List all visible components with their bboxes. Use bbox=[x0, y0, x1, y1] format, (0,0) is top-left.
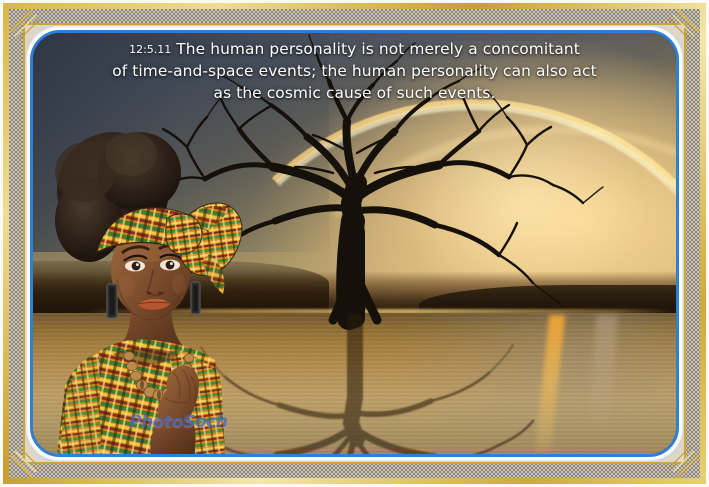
quote-line-3: as the cosmic cause of such events. bbox=[214, 84, 496, 102]
verse-reference: 12:5.11 bbox=[129, 43, 171, 56]
quote-line-1: The human personality is not merely a co… bbox=[176, 40, 580, 58]
earring-left bbox=[107, 284, 117, 318]
picture-frame: PhotoSoch 12:5.11 The human personality … bbox=[0, 0, 709, 487]
photograph: PhotoSoch 12:5.11 The human personality … bbox=[33, 33, 676, 454]
quote-line-2: of time-and-space events; the human pers… bbox=[112, 62, 597, 80]
quote-caption: 12:5.11 The human personality is not mer… bbox=[33, 39, 676, 105]
forearm bbox=[150, 420, 195, 454]
earring-right bbox=[191, 282, 200, 314]
woman-portrait bbox=[39, 102, 245, 454]
